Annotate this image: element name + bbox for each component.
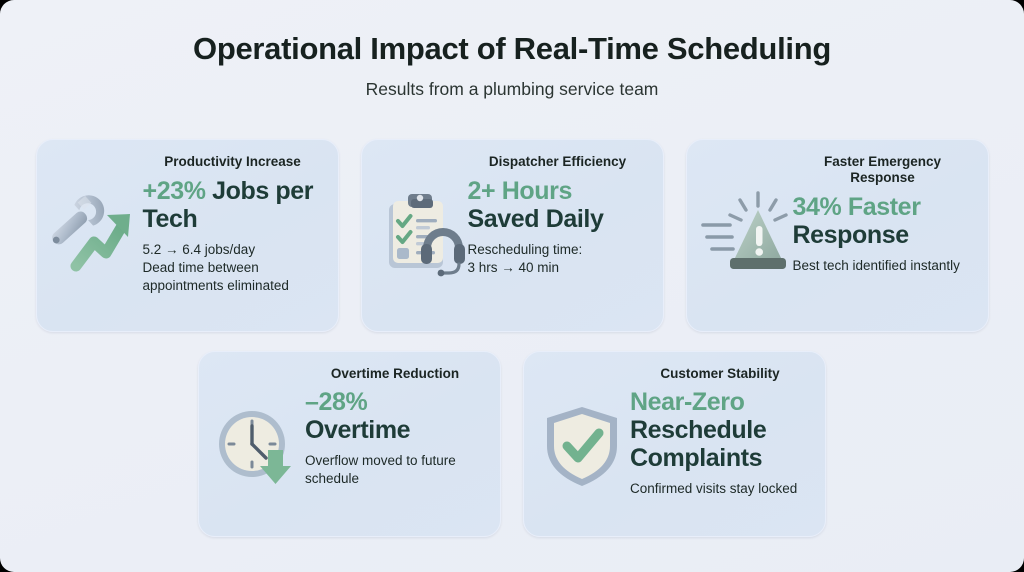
card-detail: Best tech identified instantly <box>793 257 973 275</box>
page-subtitle: Results from a plumbing service team <box>0 79 1024 100</box>
detail-line: Dead time between appointments eliminate… <box>143 259 323 295</box>
clipboard-headset-icon <box>374 188 466 280</box>
card-detail: 5.2 → 6.4 jobs/day Dead time between app… <box>143 241 323 295</box>
detail-line: Overflow moved to future schedule <box>305 452 485 488</box>
card-productivity-increase: Productivity Increase +23% Jobs per Tech… <box>36 139 339 332</box>
detail-line: Confirmed visits stay locked <box>630 480 810 498</box>
detail-line: Best tech identified instantly <box>793 257 973 275</box>
headline-rest: Saved Daily <box>468 205 648 233</box>
detail-line: 3 hrs → 40 min <box>468 259 648 277</box>
card-body: Dispatcher Efficiency 2+ Hours Saved Dai… <box>466 154 648 277</box>
headline-accent: –28% <box>305 388 485 416</box>
card-headline: –28% Overtime <box>305 388 485 444</box>
headline-rest: Overtime <box>305 416 485 444</box>
detail-line: Rescheduling time: <box>468 241 648 259</box>
wrench-growth-arrow-icon <box>49 188 141 280</box>
shield-check-icon <box>536 400 628 492</box>
card-headline: 34% Faster Response <box>793 193 973 249</box>
headline-accent: +23% <box>143 177 206 205</box>
card-headline: Near-Zero Reschedule Complaints <box>630 388 810 472</box>
card-row-bottom: Overtime Reduction –28% Overtime Overflo… <box>0 351 1024 537</box>
clock-down-arrow-icon <box>211 400 303 492</box>
detail-line: 5.2 → 6.4 jobs/day <box>143 241 323 259</box>
page-title: Operational Impact of Real-Time Scheduli… <box>0 32 1024 66</box>
card-detail: Overflow moved to future schedule <box>305 452 485 488</box>
card-label: Dispatcher Efficiency <box>468 154 648 170</box>
card-customer-stability: Customer Stability Near-Zero Reschedule … <box>523 351 826 537</box>
card-body: Customer Stability Near-Zero Reschedule … <box>628 366 810 498</box>
card-headline: +23% Jobs per Tech <box>143 177 323 233</box>
card-overtime-reduction: Overtime Reduction –28% Overtime Overflo… <box>198 351 501 537</box>
card-label: Customer Stability <box>630 366 810 382</box>
card-label: Productivity Increase <box>143 154 323 170</box>
card-body: Faster Emergency Response 34% Faster Res… <box>791 154 973 275</box>
card-detail: Rescheduling time: 3 hrs → 40 min <box>468 241 648 277</box>
infographic-canvas: Operational Impact of Real-Time Scheduli… <box>0 0 1024 572</box>
card-body: Overtime Reduction –28% Overtime Overflo… <box>303 366 485 488</box>
header: Operational Impact of Real-Time Scheduli… <box>0 0 1024 100</box>
card-headline: 2+ Hours Saved Daily <box>468 177 648 233</box>
card-body: Productivity Increase +23% Jobs per Tech… <box>141 154 323 295</box>
headline-accent: Near-Zero <box>630 388 810 416</box>
headline-rest: Reschedule Complaints <box>630 416 810 472</box>
card-detail: Confirmed visits stay locked <box>630 480 810 498</box>
headline-accent: 2+ Hours <box>468 177 648 205</box>
emergency-siren-icon <box>699 188 791 280</box>
card-row-top: Productivity Increase +23% Jobs per Tech… <box>0 139 1024 332</box>
headline-rest: Response <box>793 221 973 249</box>
card-label: Overtime Reduction <box>305 366 485 382</box>
card-label: Faster Emergency Response <box>793 154 973 186</box>
card-faster-emergency-response: Faster Emergency Response 34% Faster Res… <box>686 139 989 332</box>
card-dispatcher-efficiency: Dispatcher Efficiency 2+ Hours Saved Dai… <box>361 139 664 332</box>
headline-accent: 34% Faster <box>793 193 973 221</box>
